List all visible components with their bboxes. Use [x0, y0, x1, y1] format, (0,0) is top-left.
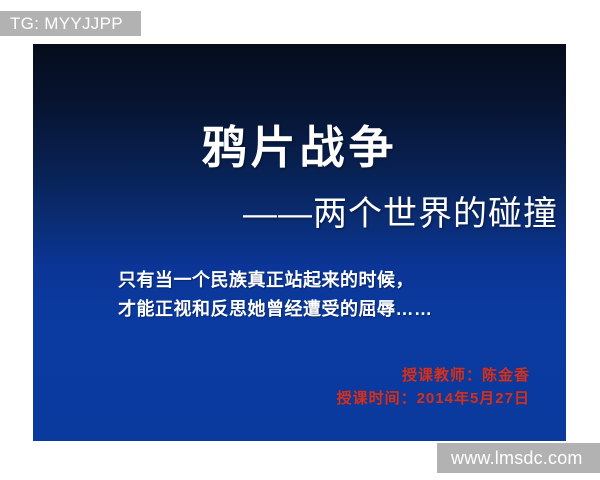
slide-body-quote: 只有当一个民族真正站起来的时候， 才能正视和反思她曾经遭受的屈辱…… [118, 266, 433, 324]
slide-subtitle: ——两个世界的碰撞 [33, 196, 566, 233]
body-line-2: 才能正视和反思她曾经遭受的屈辱…… [118, 295, 433, 324]
page-canvas: 鸦片战争 ——两个世界的碰撞 只有当一个民族真正站起来的时候， 才能正视和反思她… [0, 0, 600, 480]
watermark-top: TG: MYYJJPP [0, 11, 141, 36]
body-line-1: 只有当一个民族真正站起来的时候， [118, 266, 433, 295]
credit-instructor: 授课教师：陈金香 [337, 364, 530, 387]
presentation-slide: 鸦片战争 ——两个世界的碰撞 只有当一个民族真正站起来的时候， 才能正视和反思她… [33, 44, 566, 441]
slide-title: 鸦片战争 [33, 124, 566, 171]
slide-credits: 授课教师：陈金香 授课时间：2014年5月27日 [337, 364, 530, 411]
watermark-bottom: www.lmsdc.com [437, 443, 600, 473]
credit-date: 授课时间：2014年5月27日 [337, 387, 530, 410]
